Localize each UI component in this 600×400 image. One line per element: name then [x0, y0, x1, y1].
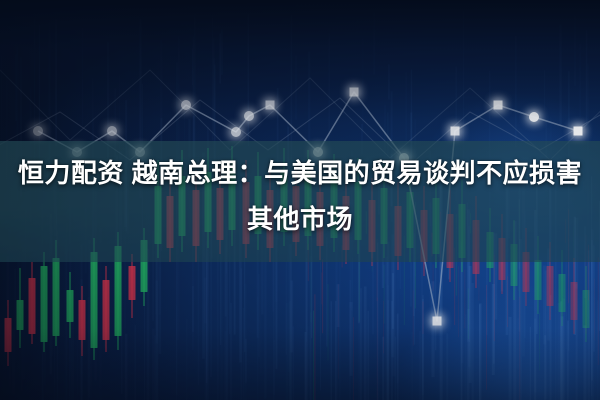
headline-line-1: 恒力配资 越南总理：与美国的贸易谈判不应损害: [12, 150, 588, 196]
page-title: 恒力配资 越南总理：与美国的贸易谈判不应损害 其他市场: [0, 150, 600, 242]
banner-image: 恒力配资 越南总理：与美国的贸易谈判不应损害 其他市场: [0, 0, 600, 400]
headline-line-2: 其他市场: [12, 196, 588, 242]
